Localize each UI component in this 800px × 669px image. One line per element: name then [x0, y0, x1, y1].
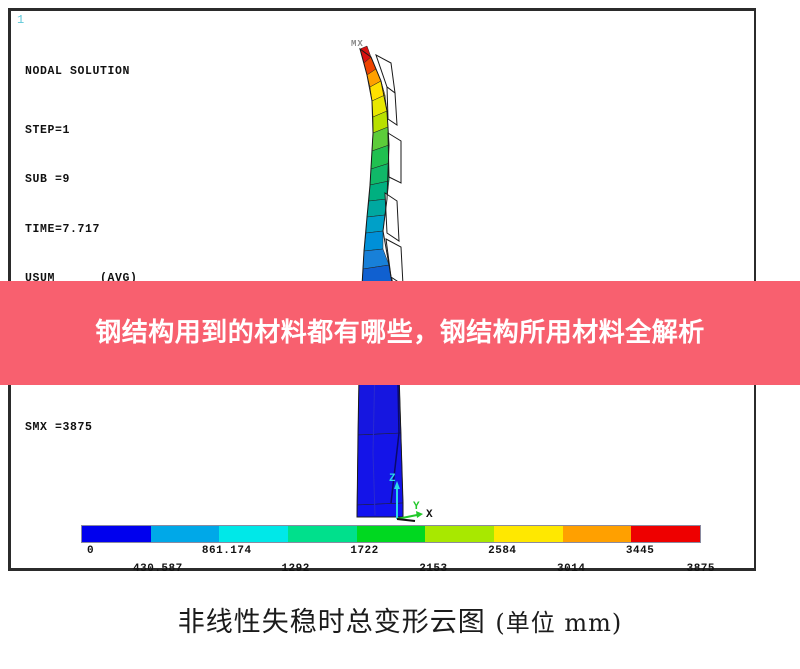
triad-z-label: Z [389, 473, 396, 485]
header-field-sub: SUB =9 [25, 172, 138, 189]
legend-tick-labels: 0430.587861.1741292172221532584301434453… [11, 545, 767, 581]
article-headline-text: 钢结构用到的材料都有哪些，钢结构所用材料全解析 [50, 314, 750, 352]
legend-band [425, 526, 494, 542]
deformed-model-contour: MX [331, 33, 461, 523]
article-headline-banner: 钢结构用到的材料都有哪些，钢结构所用材料全解析 [0, 281, 800, 385]
legend-tick-label: 3014 [557, 563, 585, 575]
legend-band [82, 526, 151, 542]
caption-main: 非线性失稳时总变形云图 [178, 607, 486, 638]
legend-band [151, 526, 220, 542]
legend-band [631, 526, 700, 542]
window-number-label: 1 [17, 13, 24, 27]
legend-tick-label: 1722 [350, 545, 378, 557]
legend-tick-label: 3445 [626, 545, 654, 557]
header-field-smx: SMX =3875 [25, 420, 138, 437]
legend-tick-label: 861.174 [202, 545, 252, 557]
solution-header-block: NODAL SOLUTION STEP=1 SUB =9 TIME=7.717 … [25, 31, 138, 469]
legend-band [219, 526, 288, 542]
legend-band [357, 526, 426, 542]
triad-y-label: Y [413, 501, 420, 513]
max-deformation-marker: MX [351, 39, 364, 49]
solution-title: NODAL SOLUTION [25, 64, 138, 81]
legend-band [288, 526, 357, 542]
legend-tick-label: 2153 [419, 563, 447, 575]
legend-band [494, 526, 563, 542]
coordinate-triad: Z Y X [383, 471, 443, 526]
header-field-step: STEP=1 [25, 123, 138, 140]
contour-color-legend [81, 525, 701, 543]
header-field-time: TIME=7.717 [25, 222, 138, 239]
legend-tick-label: 1292 [281, 563, 309, 575]
caption-unit: (单位 mm) [495, 609, 622, 637]
triad-x-label: X [426, 509, 433, 521]
legend-tick-label: 430.587 [133, 563, 183, 575]
legend-band [563, 526, 632, 542]
legend-tick-label: 3875 [687, 563, 715, 575]
figure-caption: 非线性失稳时总变形云图 (单位 mm) [0, 600, 800, 639]
legend-tick-label: 0 [87, 545, 94, 557]
model-contour-svg [331, 33, 461, 523]
legend-tick-label: 2584 [488, 545, 516, 557]
